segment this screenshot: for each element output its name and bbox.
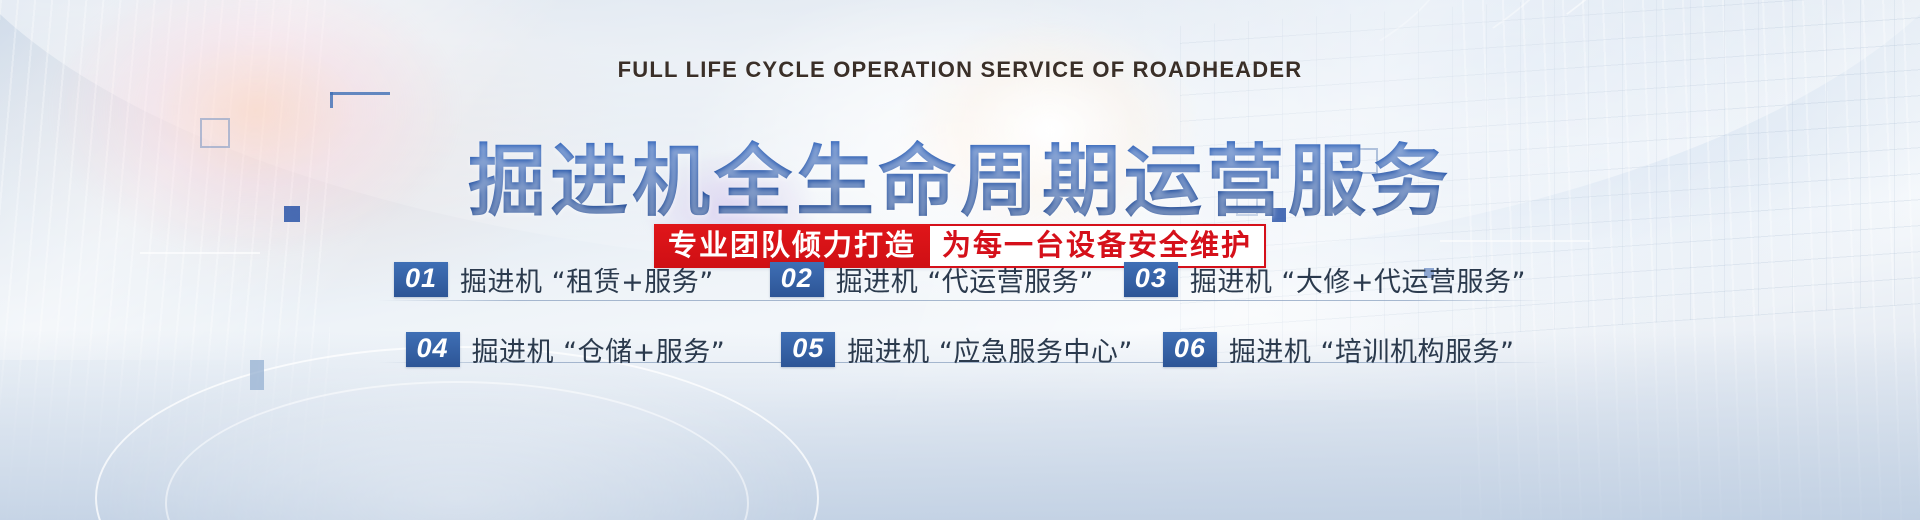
banner-content: FULL LIFE CYCLE OPERATION SERVICE OF ROA… xyxy=(0,0,1920,520)
service-item-01[interactable]: 01 掘进机 “租赁+服务” xyxy=(394,260,714,299)
service-label: 掘进机 “培训机构服务” xyxy=(1229,330,1515,369)
service-number-badge: 02 xyxy=(770,262,824,297)
service-label: 掘进机 “仓储+服务” xyxy=(472,330,726,369)
service-number-badge: 03 xyxy=(1124,262,1178,297)
service-item-05[interactable]: 05 掘进机 “应急服务中心” xyxy=(781,330,1133,369)
service-number-badge: 01 xyxy=(394,262,448,297)
service-list: 01 掘进机 “租赁+服务” 02 掘进机 “代运营服务” 03 掘进机 “大修… xyxy=(0,248,1920,380)
service-number-badge: 05 xyxy=(781,332,835,367)
service-number-badge: 06 xyxy=(1163,332,1217,367)
service-label: 掘进机 “代运营服务” xyxy=(836,260,1094,299)
service-item-03[interactable]: 03 掘进机 “大修+代运营服务” xyxy=(1124,260,1526,299)
service-label: 掘进机 “大修+代运营服务” xyxy=(1190,260,1526,299)
banner-eyebrow-text: FULL LIFE CYCLE OPERATION SERVICE OF ROA… xyxy=(0,57,1920,83)
service-row-bottom: 04 掘进机 “仓储+服务” 05 掘进机 “应急服务中心” 06 掘进机 “培… xyxy=(0,318,1920,380)
service-item-04[interactable]: 04 掘进机 “仓储+服务” xyxy=(406,330,726,369)
service-label: 掘进机 “租赁+服务” xyxy=(460,260,714,299)
service-item-06[interactable]: 06 掘进机 “培训机构服务” xyxy=(1163,330,1515,369)
service-label: 掘进机 “应急服务中心” xyxy=(847,330,1133,369)
page-title: 掘进机全生命周期运营服务 xyxy=(0,140,1920,224)
service-row-top: 01 掘进机 “租赁+服务” 02 掘进机 “代运营服务” 03 掘进机 “大修… xyxy=(0,248,1920,310)
service-number-badge: 04 xyxy=(406,332,460,367)
promo-banner: FULL LIFE CYCLE OPERATION SERVICE OF ROA… xyxy=(0,0,1920,520)
service-item-02[interactable]: 02 掘进机 “代运营服务” xyxy=(770,260,1094,299)
